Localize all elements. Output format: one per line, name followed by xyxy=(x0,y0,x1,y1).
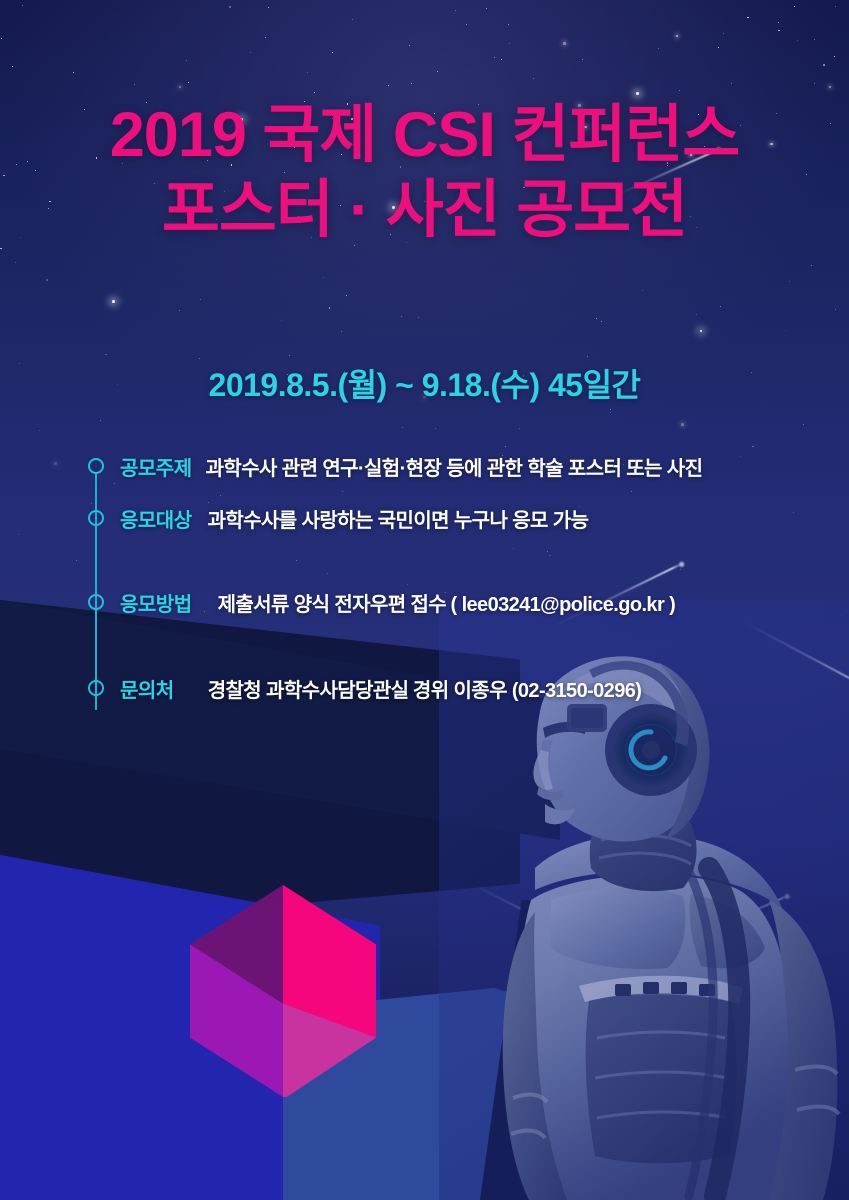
facet-bright-blue-lower xyxy=(0,1000,285,1200)
contact-phone: 경위 이종우 (02-3150-0296) xyxy=(413,680,641,702)
star xyxy=(46,279,48,281)
info-row-subject: 공모주제 과학수사 관련 연구·실험·현장 등에 관한 학술 포스터 또는 사진 xyxy=(88,452,702,481)
star xyxy=(76,560,77,561)
star xyxy=(342,491,343,492)
poster-title: 2019 국제 CSI 컨퍼런스 포스터 · 사진 공모전 xyxy=(0,103,849,243)
star xyxy=(100,420,101,421)
star xyxy=(778,22,779,23)
star xyxy=(486,8,487,9)
info-value: 과학수사를 사랑하는 국민이면 누구나 응모 가능 xyxy=(208,510,589,532)
bright-star xyxy=(700,330,702,332)
star xyxy=(547,551,548,552)
star xyxy=(455,10,456,11)
star xyxy=(610,412,611,413)
cube-face-purple xyxy=(190,885,376,1097)
info-label: 공모주제 xyxy=(120,452,192,481)
star xyxy=(0,248,2,250)
star xyxy=(401,316,402,317)
star xyxy=(1,38,2,39)
star xyxy=(505,446,506,447)
bullet-circle-icon xyxy=(88,510,104,526)
cube-face-pink xyxy=(190,885,376,1097)
info-value: 경찰청 과학수사담당관실 xyxy=(208,680,409,702)
star xyxy=(341,331,342,332)
star xyxy=(411,83,412,84)
star xyxy=(186,60,187,61)
star xyxy=(402,427,403,428)
star xyxy=(281,320,282,321)
cube-face-magenta xyxy=(190,885,376,1097)
star xyxy=(296,560,297,561)
poster-canvas: 2019 국제 CSI 컨퍼런스 포스터 · 사진 공모전 2019.8.5.(… xyxy=(0,0,849,1200)
star xyxy=(388,85,389,86)
info-label: 응모대상 xyxy=(120,504,192,533)
star xyxy=(265,37,266,38)
bright-star xyxy=(112,300,115,303)
star xyxy=(601,321,602,322)
isometric-cube xyxy=(190,885,376,1097)
comet-streak xyxy=(230,855,309,888)
star xyxy=(642,290,643,291)
star xyxy=(134,84,135,85)
info-value: 제출서류 양식 전자우편 접수 xyxy=(218,594,446,616)
star xyxy=(814,39,815,40)
cube-face-magenta-lower xyxy=(190,885,376,1097)
star xyxy=(179,310,180,311)
info-label: 응모방법 xyxy=(120,588,192,617)
star xyxy=(494,57,495,58)
star xyxy=(466,24,467,25)
star xyxy=(778,30,780,32)
bullet-circle-icon xyxy=(88,458,104,474)
star xyxy=(200,299,201,300)
star xyxy=(418,317,419,318)
star xyxy=(220,495,221,496)
star xyxy=(740,456,741,457)
star xyxy=(105,354,107,356)
star xyxy=(610,409,612,411)
star xyxy=(829,86,832,89)
star xyxy=(747,17,749,19)
comet-streak xyxy=(108,828,241,892)
star xyxy=(307,72,308,73)
star xyxy=(229,6,231,8)
star xyxy=(73,72,74,73)
star xyxy=(513,548,514,549)
star xyxy=(549,555,551,557)
star xyxy=(509,43,510,44)
star xyxy=(199,358,200,359)
star xyxy=(676,35,679,38)
bullet-circle-icon xyxy=(88,680,104,696)
star xyxy=(680,569,681,570)
star xyxy=(18,534,20,536)
star xyxy=(354,245,355,246)
star xyxy=(794,6,795,7)
star xyxy=(314,92,315,93)
star xyxy=(681,423,684,426)
star xyxy=(327,573,329,575)
star xyxy=(814,83,815,84)
star xyxy=(533,78,534,79)
star xyxy=(793,512,794,513)
info-row-submission: 응모방법 제출서류 양식 전자우편 접수 ( lee03241@police.g… xyxy=(88,588,675,617)
star xyxy=(823,64,825,66)
star xyxy=(346,295,347,296)
star xyxy=(15,262,16,263)
title-line-2: 포스터 · 사진 공모전 xyxy=(0,178,849,243)
star xyxy=(631,491,632,492)
star xyxy=(409,45,410,46)
star xyxy=(188,82,189,83)
star xyxy=(114,483,115,484)
star xyxy=(731,83,732,84)
star xyxy=(720,306,721,307)
star xyxy=(587,356,588,357)
star xyxy=(268,7,269,8)
submission-email[interactable]: ( lee03241@police.go.kr ) xyxy=(451,594,676,616)
comet-streak xyxy=(60,1013,178,1062)
star xyxy=(785,330,786,331)
cube-face-top-dark xyxy=(190,885,376,1097)
event-date-range: 2019.8.5.(월) ~ 9.18.(수) 45일간 xyxy=(0,360,849,406)
info-label: 문의처 xyxy=(120,674,174,703)
bright-star xyxy=(636,92,639,95)
star xyxy=(289,355,290,356)
star xyxy=(329,307,331,309)
star xyxy=(658,48,659,49)
star xyxy=(563,42,566,45)
star xyxy=(179,86,182,89)
title-line-1: 2019 국제 CSI 컨퍼런스 xyxy=(0,103,849,168)
info-value: 과학수사 관련 연구·실험·현장 등에 관한 학술 포스터 또는 사진 xyxy=(206,458,703,480)
star xyxy=(437,71,438,72)
star xyxy=(835,309,836,310)
star xyxy=(797,40,798,41)
star xyxy=(407,584,408,585)
star xyxy=(501,59,502,60)
star xyxy=(718,47,719,48)
star xyxy=(22,5,24,7)
star xyxy=(332,52,333,53)
star xyxy=(519,428,520,429)
star xyxy=(352,19,353,20)
info-row-contact: 문의처 경찰청 과학수사담당관실 경위 이종우 (02-3150-0296) xyxy=(88,674,641,703)
star xyxy=(811,265,812,266)
star xyxy=(803,424,804,425)
star xyxy=(789,281,791,283)
star xyxy=(435,428,436,429)
star xyxy=(12,66,13,67)
star xyxy=(679,90,680,91)
star xyxy=(323,277,324,278)
star xyxy=(752,446,754,448)
facet-bright-blue-left xyxy=(0,790,380,1200)
star xyxy=(508,24,509,25)
star xyxy=(835,6,836,7)
star xyxy=(696,314,697,315)
star xyxy=(834,56,835,57)
star xyxy=(54,462,57,465)
star xyxy=(39,430,40,431)
info-row-eligibility: 응모대상 과학수사를 사랑하는 국민이면 누구나 응모 가능 xyxy=(88,504,588,533)
star xyxy=(250,52,251,53)
bullet-circle-icon xyxy=(88,594,104,610)
star xyxy=(723,33,724,34)
star xyxy=(596,318,597,319)
star xyxy=(582,59,583,60)
